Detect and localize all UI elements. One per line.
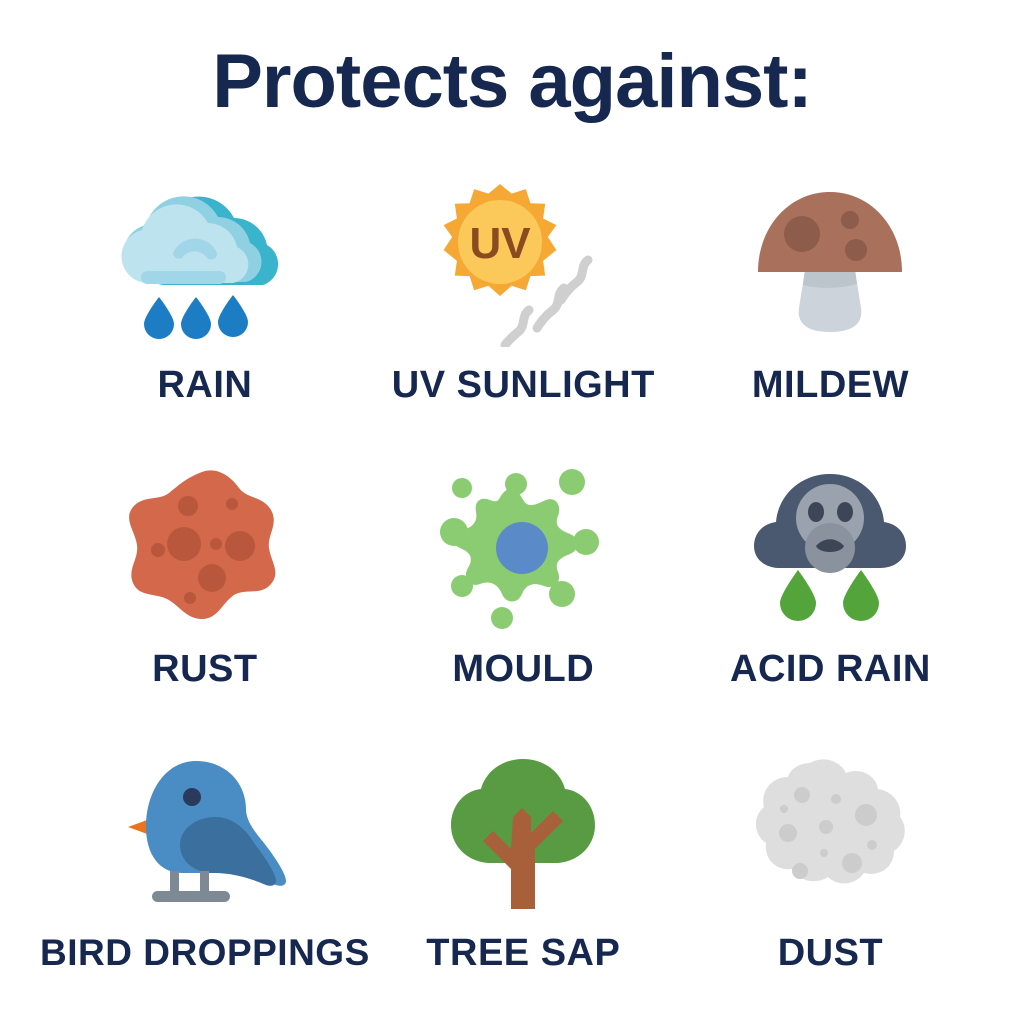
grid-item-label: MILDEW	[752, 365, 909, 407]
mould-spore-icon	[370, 456, 677, 641]
bird-icon	[40, 740, 370, 925]
grid-item-label: ACID RAIN	[730, 649, 931, 691]
grid-item-dust: DUST	[677, 740, 984, 992]
grid-item-uv-sunlight: UV UV SUNLIGHT	[370, 172, 677, 424]
grid-item-label: TREE SAP	[426, 933, 620, 975]
grid-item-rain: RAIN	[40, 172, 370, 424]
grid-item-mildew: MILDEW	[677, 172, 984, 424]
rain-cloud-icon	[40, 172, 370, 357]
grid-item-bird-droppings: BIRD DROPPINGS	[40, 740, 370, 992]
grid-item-label: MOULD	[452, 649, 594, 691]
grid-item-label: RUST	[152, 649, 257, 691]
grid-item-mould: MOULD	[370, 456, 677, 708]
protection-grid: RAIN UV UV SUNLIGHT	[40, 172, 984, 992]
mushroom-icon	[677, 172, 984, 357]
grid-item-tree-sap: TREE SAP	[370, 740, 677, 992]
grid-item-label: RAIN	[157, 365, 252, 407]
acid-rain-cloud-icon	[677, 456, 984, 641]
uv-sun-icon: UV	[370, 172, 677, 357]
grid-item-label: UV SUNLIGHT	[392, 365, 655, 407]
rust-blob-icon	[40, 456, 370, 641]
grid-item-label: DUST	[778, 933, 883, 975]
dust-cloud-icon	[677, 740, 984, 925]
page-title: Protects against:	[0, 44, 1024, 120]
infographic-poster: Protects against: RAIN	[0, 0, 1024, 1024]
grid-item-label: BIRD DROPPINGS	[40, 933, 370, 974]
grid-item-acid-rain: ACID RAIN	[677, 456, 984, 708]
grid-item-rust: RUST	[40, 456, 370, 708]
tree-icon	[370, 740, 677, 925]
uv-label: UV	[470, 219, 532, 268]
